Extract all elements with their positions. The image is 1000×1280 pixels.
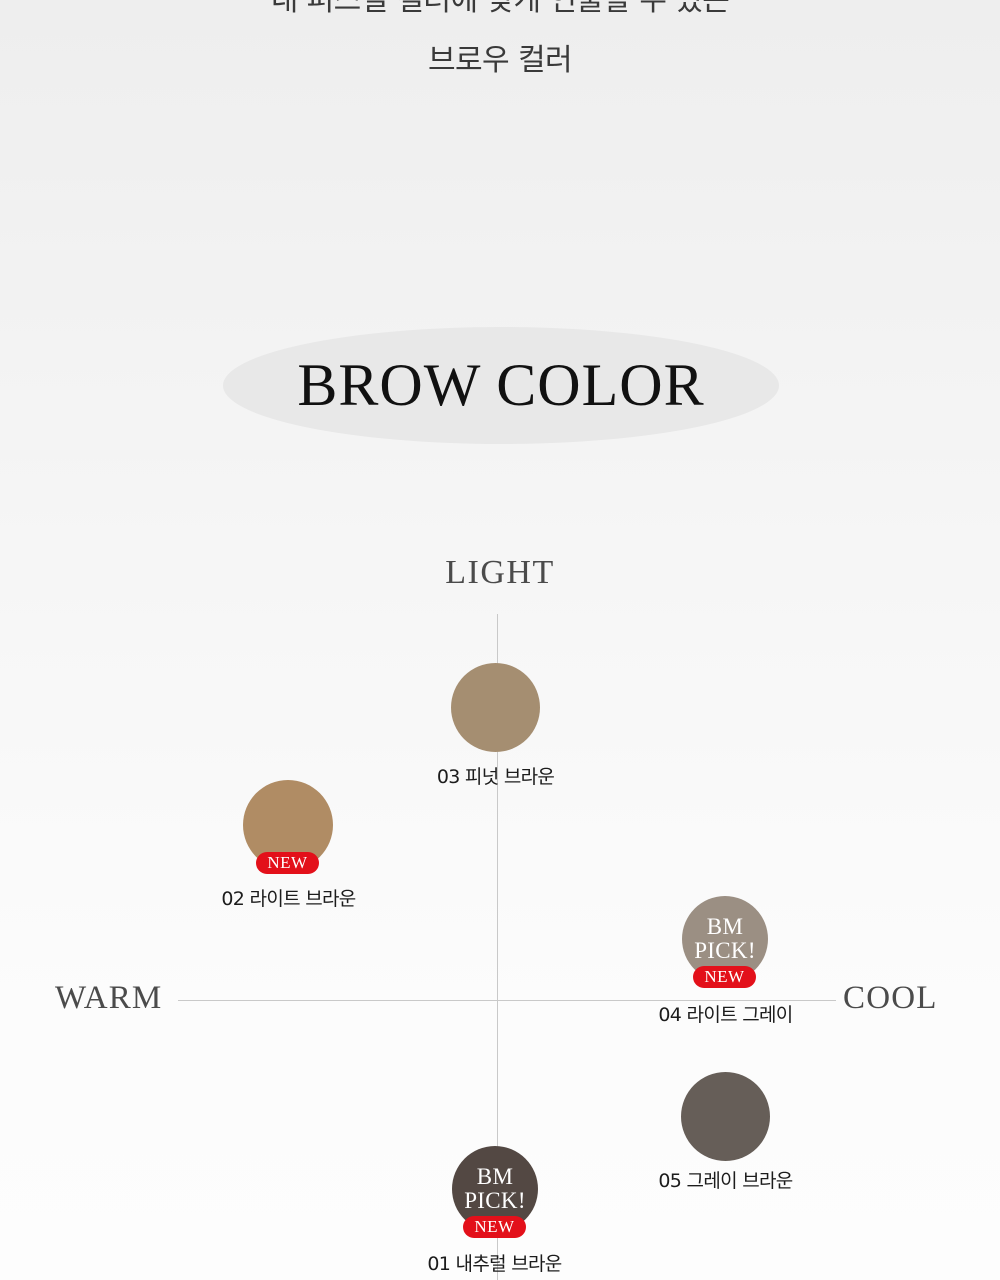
- swatch-color-dot-03[interactable]: [451, 663, 540, 752]
- intro-line-2: 브로우 컬러: [0, 46, 1000, 76]
- swatch-label-02: 02 라이트 브라운: [190, 884, 387, 911]
- bm-pick-label-04: BMPICK!: [694, 915, 756, 963]
- new-badge-04: NEW: [693, 966, 756, 988]
- axis-label-warm: WARM: [55, 980, 162, 1017]
- bm-pick-label-01: BMPICK!: [464, 1165, 526, 1213]
- brow-color-heading: BROW COLOR: [223, 327, 779, 444]
- swatch-color-dot-05[interactable]: [681, 1072, 770, 1161]
- axis-label-cool: COOL: [843, 980, 938, 1017]
- new-badge-01: NEW: [463, 1216, 526, 1238]
- swatch-label-03: 03 피넛 브라운: [397, 762, 594, 789]
- swatch-label-01: 01 내추럴 브라운: [396, 1249, 593, 1276]
- swatch-label-05: 05 그레이 브라운: [627, 1166, 824, 1193]
- page-title: BROW COLOR: [223, 327, 779, 444]
- axis-label-light: LIGHT: [0, 554, 1000, 592]
- swatch-label-04: 04 라이트 그레이: [627, 1000, 824, 1027]
- intro-line-1: 내 퍼스널 컬러에 맞게 연출할 수 있는: [0, 0, 1000, 16]
- new-badge-02: NEW: [256, 852, 319, 874]
